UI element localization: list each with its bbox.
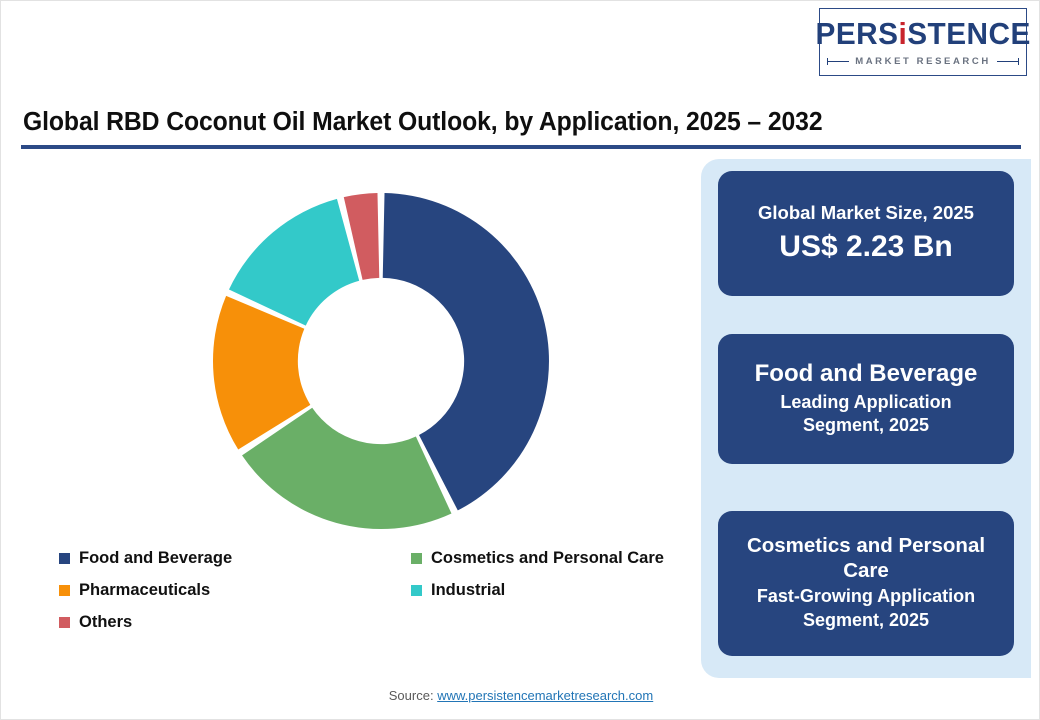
legend-swatch-icon bbox=[411, 553, 422, 564]
legend-item: Pharmaceuticals bbox=[59, 581, 411, 600]
legend-label: Others bbox=[79, 613, 132, 632]
donut-chart: Food and Beverage — 42.8%Cosmetics and P… bbox=[19, 156, 689, 556]
legend-swatch-icon bbox=[59, 585, 70, 596]
legend-swatch-icon bbox=[59, 553, 70, 564]
donut-slice-group: Food and Beverage — 42.8%Cosmetics and P… bbox=[213, 193, 549, 529]
tagline-rule-left-icon bbox=[827, 61, 849, 62]
legend-item: Cosmetics and Personal Care bbox=[411, 549, 689, 568]
brand-logo: PERSiSTENCE MARKET RESEARCH bbox=[819, 8, 1027, 76]
legend-swatch-icon bbox=[411, 585, 422, 596]
legend-label: Industrial bbox=[431, 581, 505, 600]
leading-segment-caption-line2: Segment, 2025 bbox=[803, 415, 929, 435]
legend-item: Others bbox=[59, 613, 411, 632]
legend-label: Food and Beverage bbox=[79, 549, 232, 568]
tagline-rule-right-icon bbox=[997, 61, 1019, 62]
title-divider bbox=[21, 145, 1021, 149]
brand-tagline: MARKET RESEARCH bbox=[855, 56, 991, 67]
infographic-root: PERSiSTENCE MARKET RESEARCH Global RBD C… bbox=[0, 0, 1040, 720]
leading-segment-caption: Leading Application Segment, 2025 bbox=[780, 391, 951, 439]
source-link[interactable]: www.persistencemarketresearch.com bbox=[437, 688, 653, 703]
fastgrowing-segment-name-line2: Care bbox=[843, 559, 889, 582]
brand-name: PERSiSTENCE bbox=[815, 18, 1030, 49]
stat-card-market-size: Global Market Size, 2025 US$ 2.23 Bn bbox=[718, 171, 1014, 296]
brand-name-part2: STENCE bbox=[907, 16, 1031, 51]
stat-card-leading-segment: Food and Beverage Leading Application Se… bbox=[718, 334, 1014, 464]
source-prefix: Source: bbox=[389, 688, 437, 703]
leading-segment-name: Food and Beverage bbox=[755, 360, 978, 389]
brand-name-accent-i: i bbox=[898, 16, 907, 51]
legend-label: Pharmaceuticals bbox=[79, 581, 210, 600]
legend-item: Industrial bbox=[411, 581, 689, 600]
market-size-label: Global Market Size, 2025 bbox=[758, 201, 974, 224]
fastgrowing-segment-name: Cosmetics and Personal Care bbox=[747, 534, 985, 583]
fastgrowing-segment-caption-line1: Fast-Growing Application bbox=[757, 586, 975, 606]
chart-legend: Food and BeverageCosmetics and Personal … bbox=[59, 549, 689, 632]
fastgrowing-segment-name-line1: Cosmetics and Personal bbox=[747, 534, 985, 557]
brand-name-part1: PERS bbox=[815, 16, 898, 51]
donut-chart-svg: Food and Beverage — 42.8%Cosmetics and P… bbox=[201, 181, 561, 541]
legend-label: Cosmetics and Personal Care bbox=[431, 549, 664, 568]
fastgrowing-segment-caption-line2: Segment, 2025 bbox=[803, 610, 929, 630]
source-footer: Source: www.persistencemarketresearch.co… bbox=[1, 688, 1040, 703]
fastgrowing-segment-caption: Fast-Growing Application Segment, 2025 bbox=[757, 585, 975, 633]
legend-item: Food and Beverage bbox=[59, 549, 411, 568]
stats-side-panel: Global Market Size, 2025 US$ 2.23 Bn Foo… bbox=[701, 159, 1031, 678]
brand-tagline-row: MARKET RESEARCH bbox=[827, 56, 1019, 67]
page-title: Global RBD Coconut Oil Market Outlook, b… bbox=[23, 108, 935, 137]
legend-swatch-icon bbox=[59, 617, 70, 628]
market-size-value: US$ 2.23 Bn bbox=[779, 227, 952, 266]
stat-card-fastest-growing-segment: Cosmetics and Personal Care Fast-Growing… bbox=[718, 511, 1014, 656]
leading-segment-caption-line1: Leading Application bbox=[780, 392, 951, 412]
